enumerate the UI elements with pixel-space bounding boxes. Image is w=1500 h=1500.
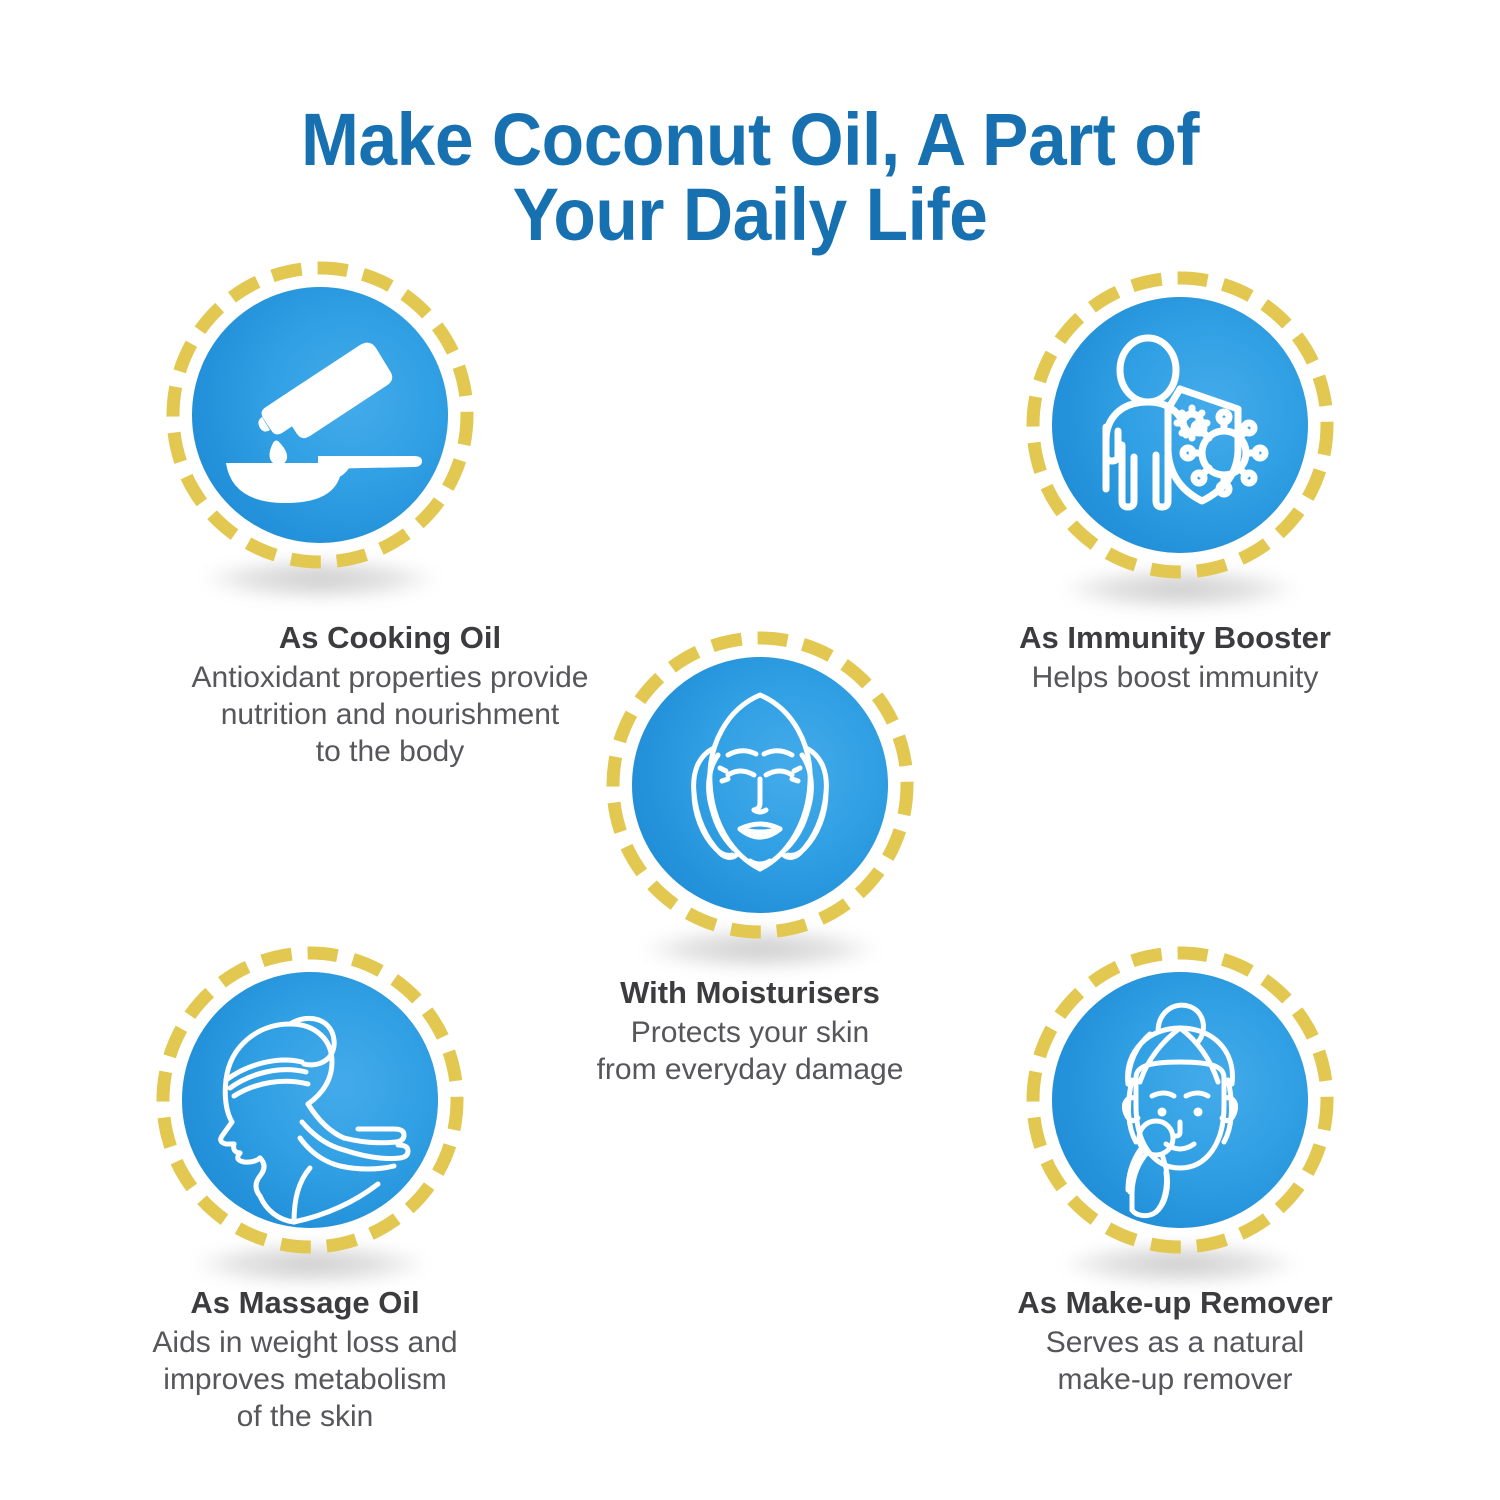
caption-immunity-booster: As Immunity Booster Helps boost immunity	[845, 620, 1500, 696]
benefit-item-massage-oil: As Massage Oil Aids in weight loss and i…	[150, 940, 460, 1260]
person-shield-virus-icon	[1052, 297, 1308, 553]
benefit-item-moisturisers: With Moisturisers Protects your skin fro…	[600, 625, 900, 945]
woman-cotton-pad-cheek-icon	[1052, 972, 1308, 1228]
caption-moisturisers: With Moisturisers Protects your skin fro…	[450, 975, 1050, 1088]
page-title: Make Coconut Oil, A Part of Your Daily L…	[45, 102, 1455, 253]
icon-badge-makeup-remover	[1020, 940, 1340, 1260]
page-title-line-1: Make Coconut Oil, A Part of	[301, 98, 1199, 181]
caption-line: Helps boost immunity	[845, 659, 1500, 696]
benefit-item-immunity-booster: As Immunity Booster Helps boost immunity	[1020, 265, 1330, 585]
caption-line: from everyday damage	[450, 1051, 1050, 1088]
infographic-canvas: Make Coconut Oil, A Part of Your Daily L…	[0, 0, 1500, 1500]
caption-line: Aids in weight loss and	[0, 1324, 615, 1361]
caption-makeup-remover: As Make-up Remover Serves as a natural m…	[845, 1285, 1500, 1398]
benefit-item-makeup-remover: As Make-up Remover Serves as a natural m…	[1020, 940, 1330, 1260]
caption-heading: With Moisturisers	[450, 975, 1050, 1011]
caption-line: Serves as a natural	[845, 1324, 1500, 1361]
bottle-pouring-into-spoon-icon	[192, 287, 448, 543]
caption-massage-oil: As Massage Oil Aids in weight loss and i…	[0, 1285, 615, 1436]
face-with-hands-skincare-icon	[632, 657, 888, 913]
woman-profile-neck-massage-icon	[182, 972, 438, 1228]
icon-badge-immunity-booster	[1020, 265, 1340, 585]
caption-heading: As Massage Oil	[0, 1285, 615, 1321]
icon-badge-cooking-oil	[160, 255, 480, 575]
caption-heading: As Make-up Remover	[845, 1285, 1500, 1321]
icon-badge-moisturisers	[600, 625, 920, 945]
caption-line: Protects your skin	[450, 1014, 1050, 1051]
caption-line: of the skin	[0, 1398, 615, 1435]
benefit-item-cooking-oil: As Cooking Oil Antioxidant properties pr…	[145, 255, 765, 575]
caption-line: make-up remover	[845, 1361, 1500, 1398]
page-title-line-2: Your Daily Life	[45, 177, 1455, 252]
caption-heading: As Immunity Booster	[845, 620, 1500, 656]
caption-line: improves metabolism	[0, 1361, 615, 1398]
icon-badge-massage-oil	[150, 940, 470, 1260]
